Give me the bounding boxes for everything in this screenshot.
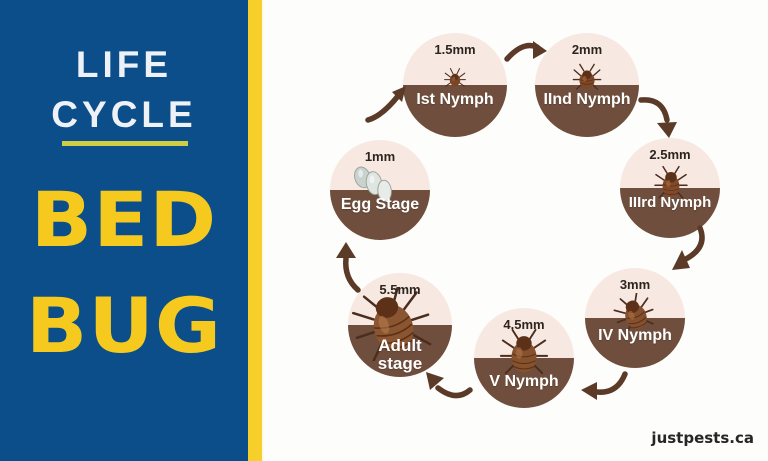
arrow-adult-to-egg <box>332 240 374 296</box>
stage-node-first-nymph[interactable]: 1.5mm Ist Nymph <box>403 33 507 137</box>
bedbug-nymph-icon <box>442 66 468 92</box>
arrow-fourth-to-fifth <box>577 364 629 406</box>
stage-label: Egg Stage <box>330 197 430 213</box>
infographic-canvas: LIFE CYCLE BED BUG 1mm Egg Stage 1.5mm <box>0 0 768 461</box>
title-line-1: BED <box>0 182 255 258</box>
arrow-third-to-fourth <box>666 222 712 276</box>
stage-node-egg[interactable]: 1mm Egg Stage <box>330 140 430 240</box>
stage-node-fifth-nymph[interactable]: 4.5mm V Nymph <box>474 308 574 408</box>
stage-size-label: 1.5mm <box>403 42 507 57</box>
arrow-first-to-second <box>503 33 553 73</box>
stripe-edge-glow <box>262 0 265 461</box>
heading-line-2: CYCLE <box>0 96 248 133</box>
arrow-fifth-to-adult <box>422 362 476 406</box>
stage-size-label: 1mm <box>330 149 430 164</box>
heading-line-1: LIFE <box>0 46 248 83</box>
title-line-2: BUG <box>0 288 255 364</box>
arrow-egg-to-first <box>362 78 414 126</box>
stage-label: IIIrd Nymph <box>620 195 720 210</box>
site-watermark: justpests.ca <box>651 429 754 447</box>
stage-node-fourth-nymph[interactable]: 3mm IV Nymph <box>585 268 685 368</box>
stage-size-label: 3mm <box>585 277 685 292</box>
bedbug-nymph-icon <box>498 327 550 379</box>
heading-underline <box>62 141 188 146</box>
stage-label: Ist Nymph <box>403 92 507 108</box>
bedbug-nymph-icon <box>571 62 603 94</box>
stage-size-label: 4.5mm <box>474 317 574 332</box>
stage-label: V Nymph <box>474 374 574 390</box>
arrow-second-to-third <box>637 92 685 144</box>
stage-label: IInd Nymph <box>535 92 639 108</box>
stage-label: IV Nymph <box>585 328 685 344</box>
stage-size-label: 2.5mm <box>620 147 720 162</box>
